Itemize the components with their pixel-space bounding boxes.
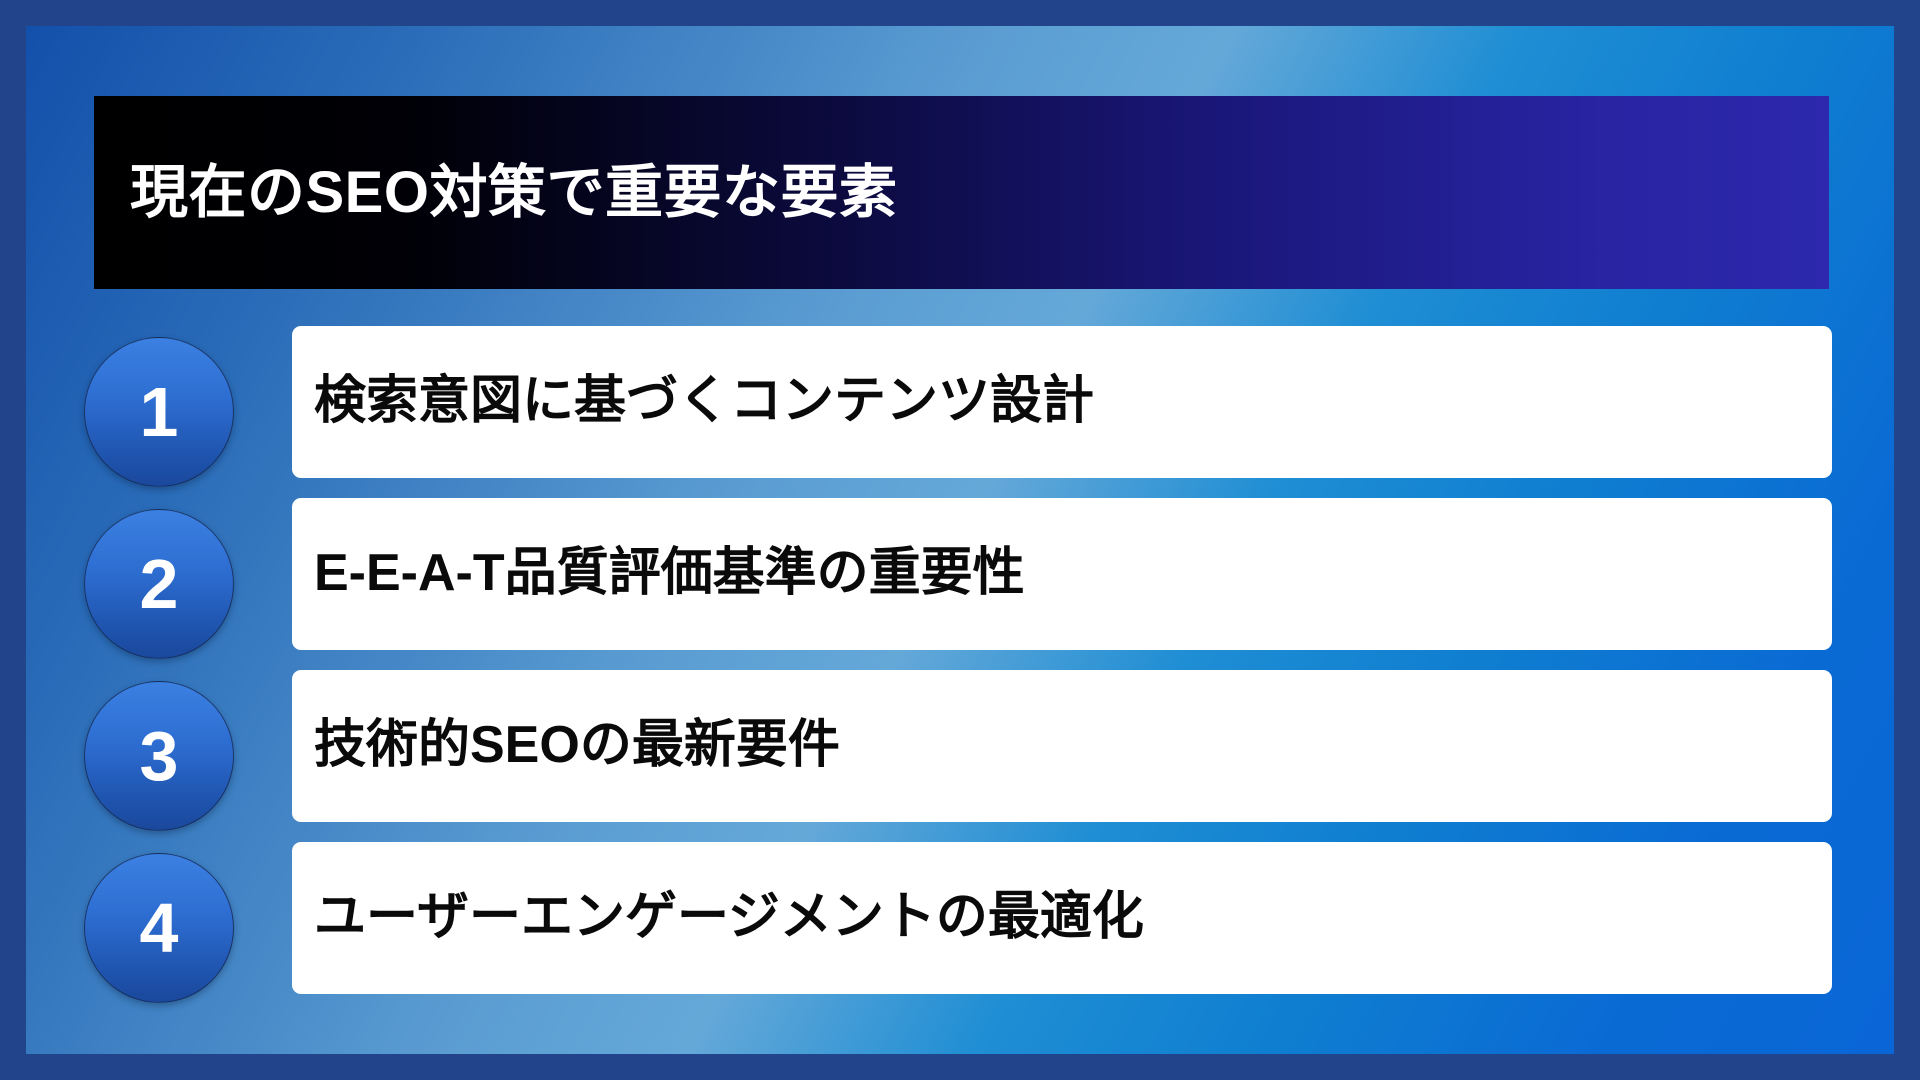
item-number-badge: 3 bbox=[84, 681, 234, 831]
page-title: 現在のSEO対策で重要な要素 bbox=[94, 161, 898, 225]
item-label: 技術的SEOの最新要件 bbox=[292, 716, 840, 776]
item-card[interactable]: 検索意図に基づくコンテンツ設計 bbox=[292, 326, 1832, 478]
title-banner: 現在のSEO対策で重要な要素 bbox=[94, 96, 1829, 289]
list-item[interactable]: 3 技術的SEOの最新要件 bbox=[26, 670, 1894, 842]
item-number-badge: 4 bbox=[84, 853, 234, 1003]
slide-frame: 現在のSEO対策で重要な要素 1 検索意図に基づくコンテンツ設計 2 E-E-A… bbox=[0, 0, 1920, 1080]
item-number-badge: 1 bbox=[84, 337, 234, 487]
slide-canvas: 現在のSEO対策で重要な要素 1 検索意図に基づくコンテンツ設計 2 E-E-A… bbox=[26, 26, 1894, 1054]
item-label: 検索意図に基づくコンテンツ設計 bbox=[292, 372, 1094, 432]
list-item[interactable]: 1 検索意図に基づくコンテンツ設計 bbox=[26, 326, 1894, 498]
list-item[interactable]: 4 ユーザーエンゲージメントの最適化 bbox=[26, 842, 1894, 1014]
item-card[interactable]: 技術的SEOの最新要件 bbox=[292, 670, 1832, 822]
item-card[interactable]: ユーザーエンゲージメントの最適化 bbox=[292, 842, 1832, 994]
item-card[interactable]: E-E-A-T品質評価基準の重要性 bbox=[292, 498, 1832, 650]
item-label: E-E-A-T品質評価基準の重要性 bbox=[292, 544, 1025, 604]
item-number-badge: 2 bbox=[84, 509, 234, 659]
numbered-list: 1 検索意図に基づくコンテンツ設計 2 E-E-A-T品質評価基準の重要性 3 … bbox=[26, 326, 1894, 1014]
item-label: ユーザーエンゲージメントの最適化 bbox=[292, 888, 1144, 948]
list-item[interactable]: 2 E-E-A-T品質評価基準の重要性 bbox=[26, 498, 1894, 670]
